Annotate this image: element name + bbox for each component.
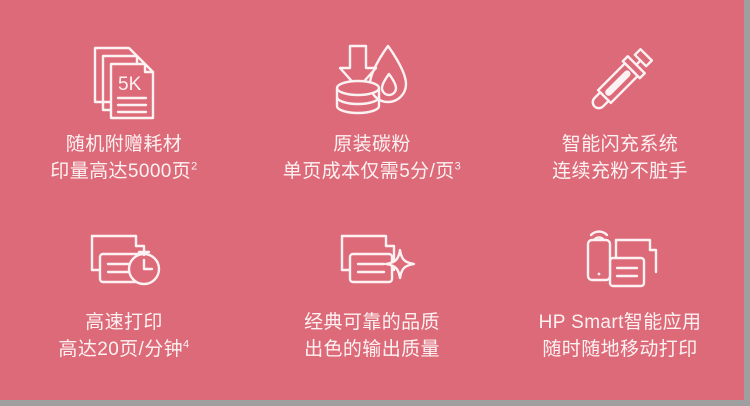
feature-footnote-marker: 4 [183,339,190,351]
feature-item-print-quality: 经典可靠的品质 出色的输出质量 [248,200,496,400]
feature-text-toner-cost: 原装碳粉 单页成本仅需5分/页3 [283,132,461,186]
feature-item-toner-cost: 原装碳粉 单页成本仅需5分/页3 [248,0,496,200]
feature-headline: 随机附赠耗材 [50,132,197,159]
toner-refill-syringe-icon [574,38,666,124]
feature-footnote-marker: 3 [455,161,462,173]
feature-headline: 经典可靠的品质 [304,310,440,337]
toner-drop-coins-icon [326,38,418,124]
feature-text-print-quality: 经典可靠的品质 出色的输出质量 [304,310,440,364]
feature-headline: HP Smart智能应用 [539,310,702,337]
feature-subline-text: 连续充粉不脏手 [552,161,688,182]
feature-subline: 连续充粉不脏手 [552,159,688,186]
phone-wifi-printer-icon [572,222,668,300]
page-edge-bottom [0,400,750,406]
feature-subline-text: 高达20页/分钟 [58,339,183,360]
promo-banner: 5K 随机附赠耗材 印量高达5000页2 [0,0,750,406]
feature-subline-text: 随时随地移动打印 [542,339,697,360]
feature-text-print-speed: 高速打印 高达20页/分钟4 [58,310,189,364]
feature-subline: 出色的输出质量 [304,337,440,364]
feature-subline: 随时随地移动打印 [539,337,702,364]
page-edge-right [744,0,750,406]
feature-grid: 5K 随机附赠耗材 印量高达5000页2 [0,0,744,400]
feature-headline: 高速打印 [58,310,189,337]
feature-headline: 智能闪充系统 [552,132,688,159]
stacked-pages-5k-icon: 5K [81,38,167,124]
feature-subline-text: 印量高达5000页 [50,161,191,182]
feature-text-smart-refill: 智能闪充系统 连续充粉不脏手 [552,132,688,186]
feature-subline: 单页成本仅需5分/页3 [283,159,461,186]
feature-subline-text: 出色的输出质量 [304,339,440,360]
feature-text-supplies: 随机附赠耗材 印量高达5000页2 [50,132,197,186]
feature-text-mobile-print: HP Smart智能应用 随时随地移动打印 [539,310,702,364]
feature-item-print-speed: 高速打印 高达20页/分钟4 [0,200,248,400]
feature-item-supplies: 5K 随机附赠耗材 印量高达5000页2 [0,0,248,200]
feature-subline-text: 单页成本仅需5分/页 [283,161,455,182]
feature-item-smart-refill: 智能闪充系统 连续充粉不脏手 [496,0,744,200]
feature-item-mobile-print: HP Smart智能应用 随时随地移动打印 [496,200,744,400]
feature-footnote-marker: 2 [191,161,198,173]
printer-sparkle-icon [326,222,418,300]
stacked-pages-5k-label: 5K [118,74,142,95]
feature-subline: 高达20页/分钟4 [58,337,189,364]
feature-headline: 原装碳粉 [283,132,461,159]
printer-stopwatch-icon [78,222,170,300]
feature-subline: 印量高达5000页2 [50,159,197,186]
